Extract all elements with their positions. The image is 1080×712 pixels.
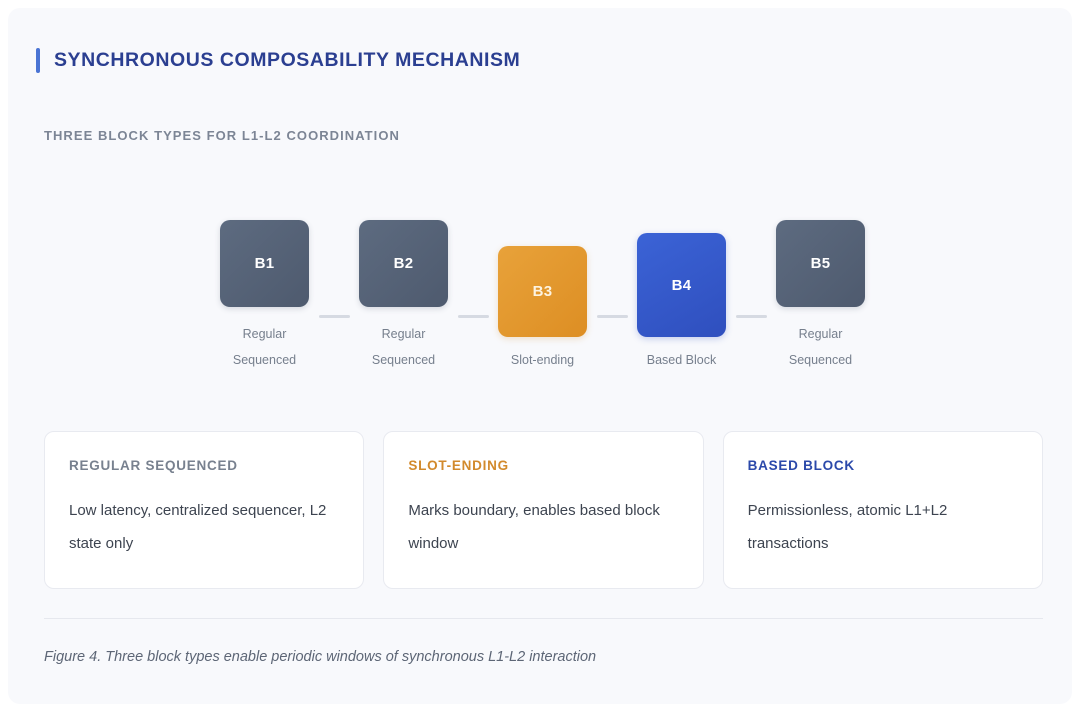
block-b4-caption: Based Block [647,347,716,373]
block-b3: B3 [498,246,587,337]
block-group-b1: B1 Regular Sequenced [220,220,309,373]
block-b1: B1 [220,220,309,307]
figure-panel: SYNCHRONOUS COMPOSABILITY MECHANISM THRE… [8,8,1072,704]
card-slot-ending: SLOT-ENDING Marks boundary, enables base… [383,431,703,589]
caption-divider [44,618,1043,619]
card-regular-sequenced: REGULAR SEQUENCED Low latency, centraliz… [44,431,364,589]
card-regular-sequenced-title: REGULAR SEQUENCED [69,458,339,473]
legend-cards: REGULAR SEQUENCED Low latency, centraliz… [44,431,1043,589]
connector-b3-b4 [597,315,628,318]
block-b1-caption: Regular Sequenced [233,321,296,373]
card-slot-ending-body: Marks boundary, enables based block wind… [408,494,678,560]
card-based-block: BASED BLOCK Permissionless, atomic L1+L2… [723,431,1043,589]
card-regular-sequenced-body: Low latency, centralized sequencer, L2 s… [69,494,339,560]
block-b2-caption: Regular Sequenced [372,321,435,373]
block-b2: B2 [359,220,448,307]
block-group-b5: B5 Regular Sequenced [776,220,865,373]
card-based-block-title: BASED BLOCK [748,458,1018,473]
title-accent-bar [36,48,40,73]
block-group-b2: B2 Regular Sequenced [359,220,448,373]
block-b5-caption: Regular Sequenced [789,321,852,373]
block-b5: B5 [776,220,865,307]
block-chain-diagram: B1 Regular Sequenced B2 Regular Sequence… [8,198,1072,373]
figure-title-row: SYNCHRONOUS COMPOSABILITY MECHANISM [36,48,520,73]
block-b4: B4 [637,233,726,337]
figure-subtitle: THREE BLOCK TYPES FOR L1-L2 COORDINATION [44,128,400,143]
block-group-b3: B3 Slot-ending [498,246,587,373]
card-slot-ending-title: SLOT-ENDING [408,458,678,473]
connector-b1-b2 [319,315,350,318]
card-based-block-body: Permissionless, atomic L1+L2 transaction… [748,494,1018,560]
connector-b4-b5 [736,315,767,318]
connector-b2-b3 [458,315,489,318]
block-group-b4: B4 Based Block [637,233,726,373]
block-b3-caption: Slot-ending [511,347,574,373]
figure-caption: Figure 4. Three block types enable perio… [44,649,596,665]
page-title: SYNCHRONOUS COMPOSABILITY MECHANISM [54,49,520,72]
